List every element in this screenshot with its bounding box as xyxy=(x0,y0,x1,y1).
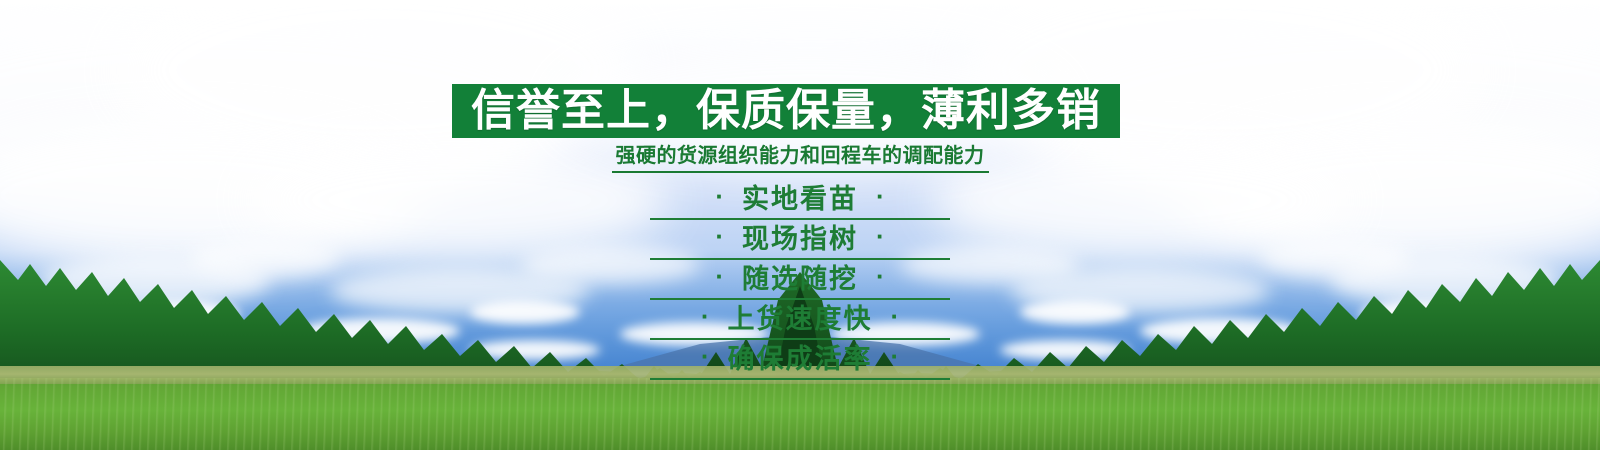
bullet-dot-icon: · xyxy=(891,303,900,329)
feature-item: · 实地看苗 · xyxy=(650,180,950,218)
subtitle-text: 强硬的货源组织能力和回程车的调配能力 xyxy=(612,145,989,173)
bullet-dot-icon: · xyxy=(891,343,900,369)
bullet-dot-icon: · xyxy=(701,303,710,329)
bullet-dot-icon: · xyxy=(701,343,710,369)
feature-item: · 上货速度快 · xyxy=(650,298,950,338)
bullet-dot-icon: · xyxy=(715,223,724,249)
bullet-dot-icon: · xyxy=(876,183,885,209)
feature-label: 上货速度快 xyxy=(710,306,891,333)
bullet-dot-icon: · xyxy=(876,223,885,249)
promo-banner: 信誉至上，保质保量，薄利多销 强硬的货源组织能力和回程车的调配能力 · 实地看苗… xyxy=(0,0,1600,450)
headline-bar: 信誉至上，保质保量，薄利多销 xyxy=(452,84,1120,138)
feature-list: · 实地看苗 · · 现场指树 · · 随选随挖 · · 上货速度快 · · xyxy=(0,180,1600,380)
feature-item: · 确保成活率 · xyxy=(650,338,950,380)
bullet-dot-icon: · xyxy=(876,263,885,289)
feature-label: 现场指树 xyxy=(724,226,876,253)
feature-label: 实地看苗 xyxy=(724,186,876,213)
bullet-dot-icon: · xyxy=(715,183,724,209)
feature-label: 随选随挖 xyxy=(724,266,876,293)
headline-text: 信誉至上，保质保量，薄利多销 xyxy=(471,89,1101,133)
feature-item: · 现场指树 · xyxy=(650,218,950,258)
subtitle: 强硬的货源组织能力和回程车的调配能力 xyxy=(0,145,1600,173)
feature-item: · 随选随挖 · xyxy=(650,258,950,298)
banner-content: 信誉至上，保质保量，薄利多销 强硬的货源组织能力和回程车的调配能力 · 实地看苗… xyxy=(0,0,1600,450)
feature-label: 确保成活率 xyxy=(710,346,891,373)
bullet-dot-icon: · xyxy=(715,263,724,289)
